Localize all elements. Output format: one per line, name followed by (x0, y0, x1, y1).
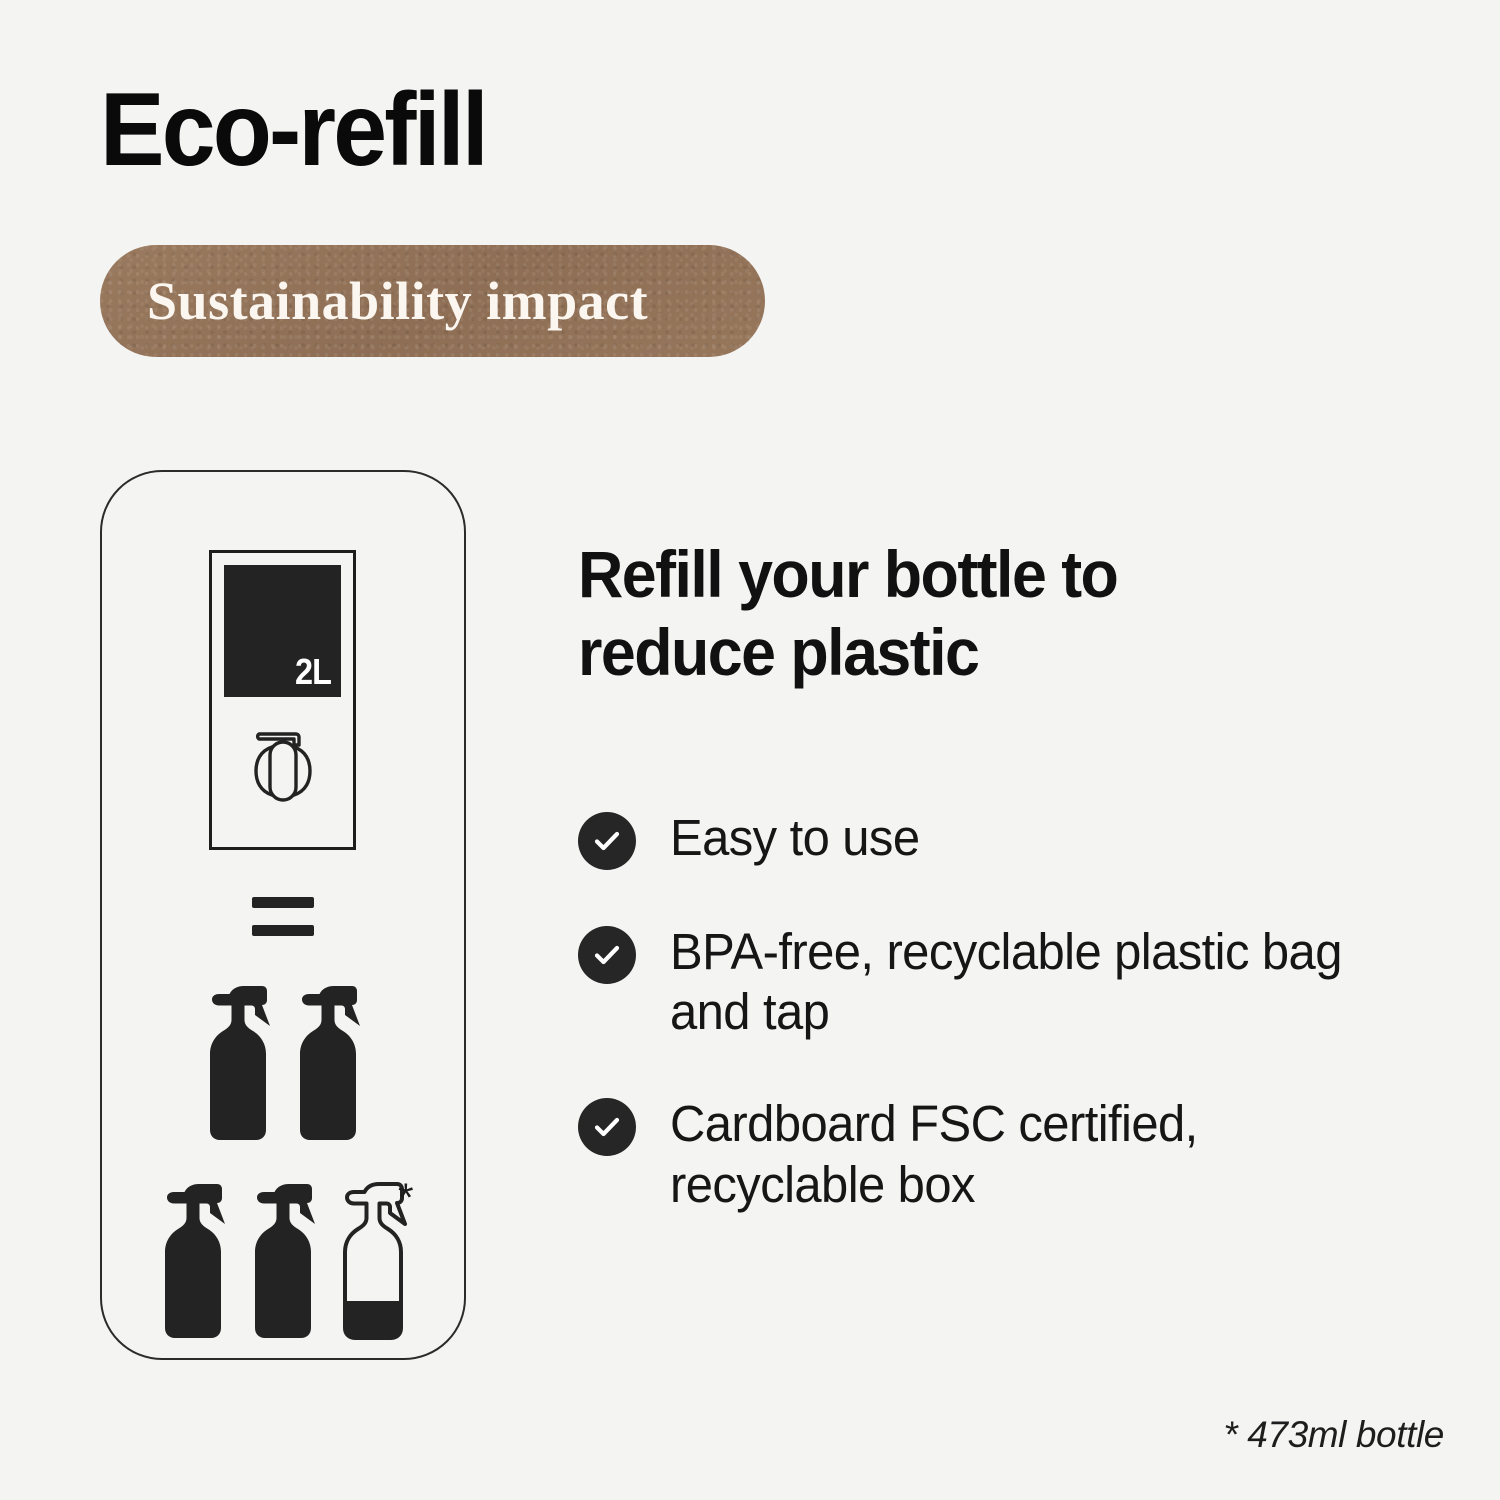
bottle-row-top (199, 984, 367, 1144)
box-label-area: 2L (224, 565, 341, 697)
bottle-row-bottom (154, 1182, 412, 1342)
content-heading-line-1: Refill your bottle to (578, 537, 1117, 611)
box-volume-label: 2L (295, 654, 331, 690)
footnote-marker: * (398, 1178, 414, 1218)
spray-bottle-filled-icon (244, 1182, 322, 1342)
eco-refill-illustration-panel: 2L (100, 470, 466, 1360)
spray-bottle-filled-icon (289, 984, 367, 1144)
badge-label: Sustainability impact (147, 270, 648, 332)
equals-bar-top (252, 897, 314, 908)
feature-label: Easy to use (670, 808, 919, 868)
sustainability-impact-badge: Sustainability impact (100, 245, 765, 357)
feature-list: Easy to use BPA-free, recyclable plastic… (578, 808, 1438, 1215)
equals-bar-bottom (252, 925, 314, 936)
check-circle-icon (578, 1098, 636, 1156)
footnote-text: * 473ml bottle (1223, 1414, 1444, 1456)
list-item: Cardboard FSC certified, recyclable box (578, 1094, 1438, 1214)
spray-bottle-filled-icon (199, 984, 277, 1144)
list-item: Easy to use (578, 808, 1438, 870)
list-item: BPA-free, recyclable plastic bag and tap (578, 922, 1438, 1042)
feature-label: Cardboard FSC certified, recyclable box (670, 1094, 1407, 1214)
check-circle-icon (578, 812, 636, 870)
content-heading-line-2: reduce plastic (578, 615, 978, 689)
equals-sign-icon (252, 897, 314, 936)
refill-box-graphic: 2L (209, 550, 356, 850)
tap-icon (250, 729, 316, 808)
page-title: Eco-refill (100, 76, 486, 185)
content-heading: Refill your bottle to reduce plastic (578, 536, 1395, 692)
content-column: Refill your bottle to reduce plastic Eas… (578, 536, 1438, 692)
feature-label: BPA-free, recyclable plastic bag and tap (670, 922, 1407, 1042)
check-circle-icon (578, 926, 636, 984)
spray-bottle-filled-icon (154, 1182, 232, 1342)
